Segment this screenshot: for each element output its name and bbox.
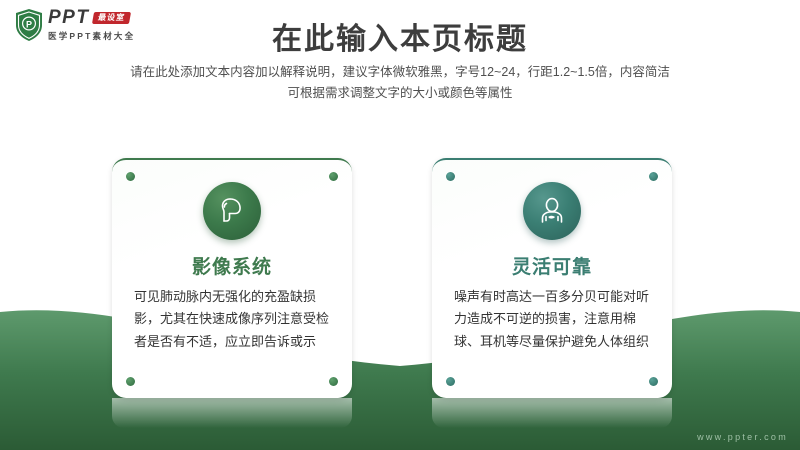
svg-text:P: P bbox=[26, 19, 32, 29]
subtitle-line-2: 可根据需求调整文字的大小或颜色等属性 bbox=[0, 83, 800, 104]
feature-card-reliable[interactable]: 灵活可靠 噪声有时高达一百多分贝可能对听力造成不可逆的损害，注意用棉球、耳机等尽… bbox=[432, 158, 672, 398]
shield-logo-icon: P bbox=[14, 8, 44, 42]
page-subtitle: 请在此处添加文本内容加以解释说明，建议字体微软雅黑，字号12~24，行距1.2~… bbox=[0, 62, 800, 105]
brand-logo[interactable]: P PPT 最设室 医学PPT素材大全 bbox=[14, 8, 135, 42]
card-corner-dot bbox=[649, 172, 658, 181]
person-patient-icon bbox=[523, 182, 581, 240]
lung-outline-icon bbox=[203, 182, 261, 240]
card-corner-dot bbox=[126, 377, 135, 386]
logo-brand-text: PPT bbox=[48, 8, 89, 27]
site-watermark: www.ppter.com bbox=[697, 432, 788, 442]
slide-canvas: P PPT 最设室 医学PPT素材大全 在此输入本页标题 请在此处添加文本内容加… bbox=[0, 0, 800, 450]
logo-badge: 最设室 bbox=[92, 12, 131, 24]
logo-text-block: PPT 最设室 医学PPT素材大全 bbox=[48, 8, 135, 42]
card-title: 灵活可靠 bbox=[432, 252, 672, 279]
card-corner-dot bbox=[329, 377, 338, 386]
logo-primary-row: PPT 最设室 bbox=[48, 8, 135, 27]
card-corner-dot bbox=[649, 377, 658, 386]
card-body-text: 噪声有时高达一百多分贝可能对听力造成不可逆的损害，注意用棉球、耳机等尽量保护避免… bbox=[454, 286, 650, 353]
card-title: 影像系统 bbox=[112, 252, 352, 279]
subtitle-line-1: 请在此处添加文本内容加以解释说明，建议字体微软雅黑，字号12~24，行距1.2~… bbox=[0, 62, 800, 83]
feature-card-imaging[interactable]: 影像系统 可见肺动脉内无强化的充盈缺损影，尤其在快速成像序列注意受检者是否有不适… bbox=[112, 158, 352, 398]
card-corner-dot bbox=[329, 172, 338, 181]
card-corner-dot bbox=[126, 172, 135, 181]
logo-tagline: 医学PPT素材大全 bbox=[48, 30, 135, 42]
card-body-text: 可见肺动脉内无强化的充盈缺损影，尤其在快速成像序列注意受检者是否有不适，应立即告… bbox=[134, 286, 330, 353]
card-corner-dot bbox=[446, 377, 455, 386]
card-corner-dot bbox=[446, 172, 455, 181]
